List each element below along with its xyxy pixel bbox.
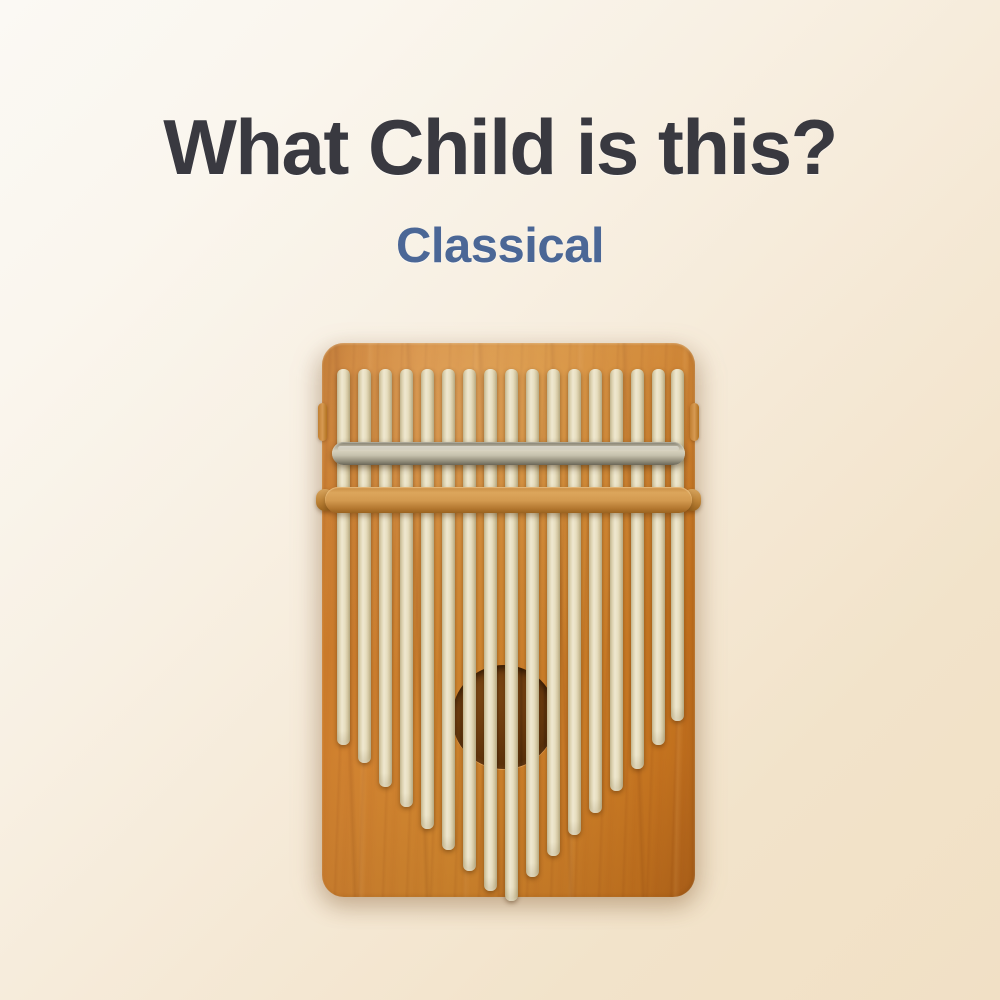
poster-canvas: What Child is this? Classical (0, 0, 1000, 1000)
kalimba-tine-5[interactable] (421, 369, 434, 829)
metal-bridge-bar (332, 442, 685, 465)
kalimba-tine-1[interactable] (337, 369, 350, 745)
page-title: What Child is this? (0, 108, 1000, 186)
kalimba-instrument (322, 343, 695, 897)
kalimba-tine-14[interactable] (610, 369, 623, 791)
kalimba-tine-4[interactable] (400, 369, 413, 807)
kalimba-tine-17[interactable] (671, 369, 684, 721)
kalimba-tine-3[interactable] (379, 369, 392, 787)
kalimba-tine-15[interactable] (631, 369, 644, 769)
kalimba-tine-12[interactable] (568, 369, 581, 835)
page-subtitle: Classical (0, 222, 1000, 271)
wood-bridge-bar (325, 487, 692, 513)
kalimba-tine-16[interactable] (652, 369, 665, 745)
kalimba-tine-13[interactable] (589, 369, 602, 813)
kalimba-tine-2[interactable] (358, 369, 371, 763)
tine-group (322, 343, 695, 897)
